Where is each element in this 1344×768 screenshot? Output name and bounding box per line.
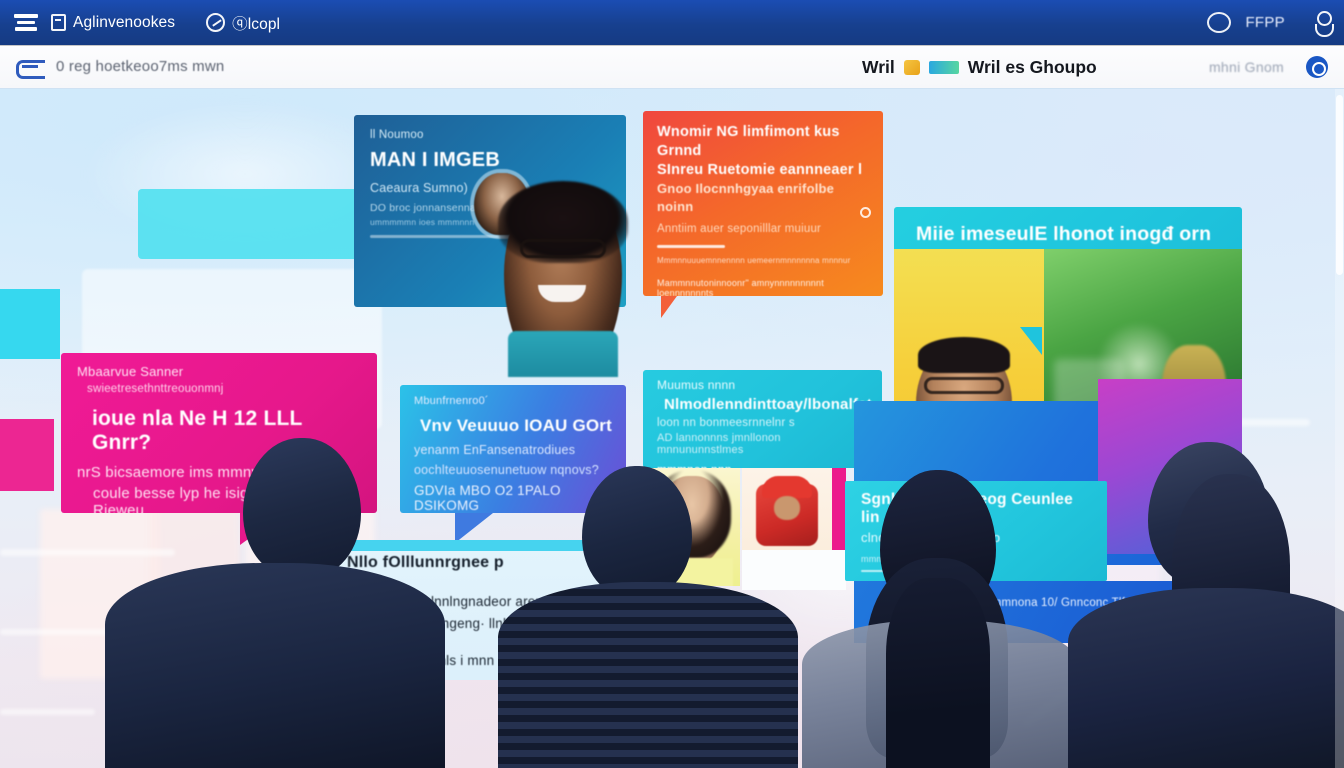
page-scrollbar[interactable] (1335, 89, 1344, 768)
browser-tab-bar: Aglinvenookes ⓠlcopl FFPP (0, 0, 1344, 45)
document-favicon (51, 14, 66, 31)
card-kicker: Mbunfrnenro0´ (414, 395, 612, 407)
bubble-tail-orange (661, 296, 677, 318)
smiling-man-glasses-photo (498, 181, 628, 371)
top-right-label: FFPP (1245, 14, 1285, 31)
hamburger-menu-icon[interactable] (14, 14, 38, 32)
card-kicker: Mbaarvue Sanner (77, 364, 361, 379)
card-headline-line2: SInreu Ruetomie eannneaer l (657, 161, 869, 180)
gradient-badge-icon (929, 61, 959, 74)
card-meta: Mmmnnuuuemnnennnn uemeernmnnnnnna mnnnur (657, 256, 869, 265)
person-silhouette-ponytail (1068, 478, 1344, 768)
backdrop-accent-cyan (0, 289, 60, 359)
scroll-thumb[interactable] (1336, 95, 1343, 275)
browser-tab-second[interactable]: ⓠlcopl (206, 12, 280, 34)
circle-outline-icon[interactable] (1207, 12, 1231, 33)
chat-bubble-icon[interactable] (1306, 56, 1328, 78)
card-headline: Wnomir NG limfimont kus Grnnd (657, 123, 869, 161)
card-body-line: loon nn bonmeesrnnelnr s (657, 417, 868, 429)
yellow-badge-icon (904, 60, 920, 75)
card-headline: Nlmodlenndinttoay/lbonalfet (664, 396, 868, 413)
page-title-text: Wril es Ghoupo (968, 57, 1097, 78)
person-silhouette-long-hair (798, 510, 1078, 768)
card-body-line: Mammnnutoninnoonr" amnynnnnnnnnnt loennn… (657, 278, 869, 297)
page-title-text-lead: Wril (862, 57, 895, 78)
backdrop-accent-magenta (0, 419, 54, 491)
person-silhouette-striped-shirt (498, 490, 798, 768)
card-headline: MAN I IMGEB (370, 149, 610, 172)
note-card-cyan[interactable]: Muumus nnnn Nlmodlenndinttoay/lbonalfet … (643, 370, 882, 468)
bubble-tail-cyan-top (1020, 327, 1042, 355)
card-kicker: ll Noumoo (370, 129, 610, 141)
backdrop-streak (0, 629, 110, 635)
card-kicker: Muumus nnnn (657, 378, 868, 392)
page-title: Wril Wril es Ghoupo (862, 45, 1097, 89)
bubble-tail-violet (455, 513, 493, 543)
browser-address-bar: 0 reg hoetkeoo7ms mwn Wril Wril es Ghoup… (0, 45, 1344, 89)
browser-tab-second-label: ⓠlcopl (232, 12, 280, 34)
browser-window: Aglinvenookes ⓠlcopl FFPP 0 reg hoetkeoo… (0, 0, 1344, 768)
backdrop-streak (0, 709, 95, 715)
card-body-line: yenanm EnFansenatrodiues (414, 443, 612, 457)
card-body-line: AD lannonnns jmnllonon mnnununnstlmes (657, 432, 868, 456)
card-status-dot (860, 207, 871, 218)
back-arrow-icon[interactable] (16, 58, 42, 75)
account-profile-icon[interactable] (1315, 11, 1330, 35)
backdrop-accent-cyan (138, 189, 386, 259)
browser-tab-label: Aglinvenookes (73, 14, 175, 32)
address-url-input[interactable]: 0 reg hoetkeoo7ms mwn (56, 58, 224, 75)
browser-tab-active[interactable]: Aglinvenookes (51, 14, 175, 32)
secondary-label: mhni Gnom (1209, 59, 1284, 75)
feed-canvas: ll Noumoo MAN I IMGEB Caeaura Sumno) DO … (0, 89, 1344, 768)
card-headline: Miie imeseulE lhonot inogđ orn (916, 223, 1220, 246)
card-divider (657, 245, 725, 248)
card-kicker-secondary: swieetresethnttreouonmnj (87, 383, 361, 395)
address-bar-right-group: mhni Gnom (1209, 45, 1328, 89)
announcement-card-orange[interactable]: Wnomir NG limfimont kus Grnnd SInreu Rue… (643, 111, 883, 296)
card-headline-line3: Gnoo Ilocnnhgyaa enrifolbe noinn (657, 180, 869, 216)
compass-icon (206, 13, 225, 32)
person-silhouette-back-view (95, 468, 455, 768)
card-subtitle: Anntiim auer seponilllar muiuur (657, 223, 869, 235)
card-headline: Vnv Veuuuo IOAU GOrt (420, 416, 612, 436)
